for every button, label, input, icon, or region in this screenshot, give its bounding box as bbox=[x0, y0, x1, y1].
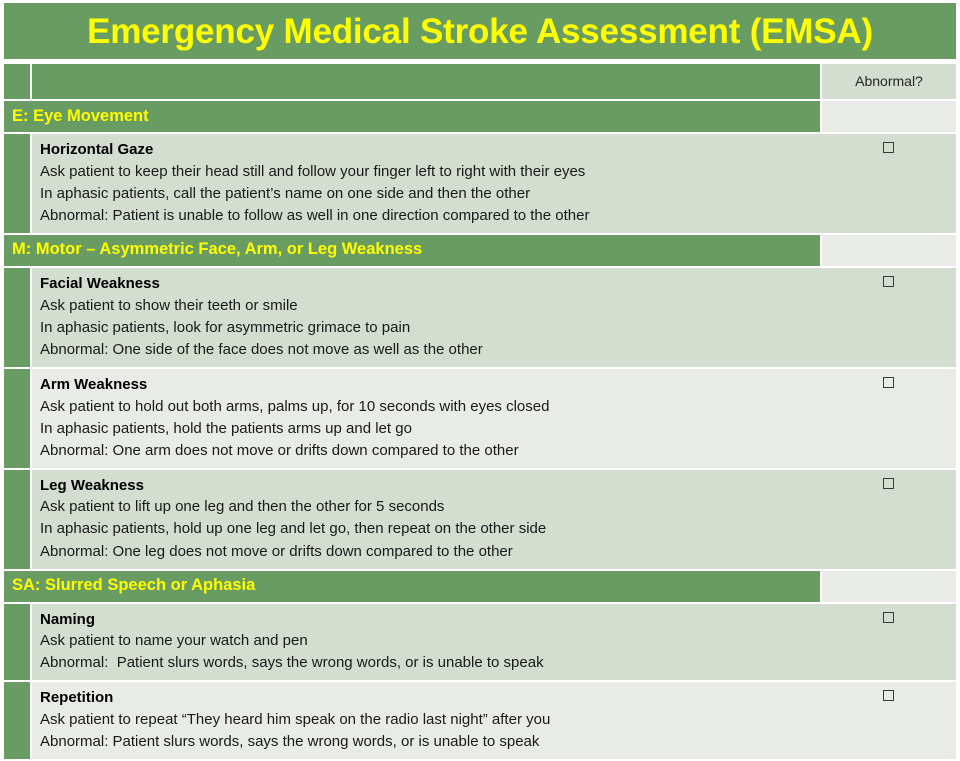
checkbox-icon[interactable] bbox=[883, 276, 894, 287]
item-line-aphasic: In aphasic patients, call the patient’s … bbox=[40, 183, 815, 205]
item-line-abnormal: Abnormal: Patient is unable to follow as… bbox=[40, 205, 815, 227]
section-abnormal-cell bbox=[821, 100, 956, 133]
checkbox-icon[interactable] bbox=[883, 612, 894, 623]
row-body-repetition: Repetition Ask patient to repeat “They h… bbox=[31, 681, 821, 760]
item-line-aphasic: In aphasic patients, hold up one leg and… bbox=[40, 518, 815, 540]
header-abnormal-cell: Abnormal? bbox=[821, 64, 956, 100]
item-line-abnormal: Abnormal: One leg does not move or drift… bbox=[40, 541, 815, 563]
abnormal-cell-facial-weakness[interactable] bbox=[821, 267, 956, 368]
table-row-horizontal-gaze: Horizontal Gaze Ask patient to keep thei… bbox=[4, 133, 956, 234]
section-label-speech: SA: Slurred Speech or Aphasia bbox=[12, 576, 255, 594]
row-gutter bbox=[4, 681, 31, 760]
checkbox-icon[interactable] bbox=[883, 690, 894, 701]
section-header-row-motor: M: Motor – Asymmetric Face, Arm, or Leg … bbox=[4, 234, 956, 267]
abnormal-cell-leg-weakness[interactable] bbox=[821, 469, 956, 570]
item-line-abnormal: Abnormal: Patient slurs words, says the … bbox=[40, 652, 815, 674]
item-line-instruction: Ask patient to hold out both arms, palms… bbox=[40, 396, 815, 418]
abnormal-cell-arm-weakness[interactable] bbox=[821, 368, 956, 469]
row-gutter bbox=[4, 603, 31, 682]
row-gutter bbox=[4, 368, 31, 469]
row-body-horizontal-gaze: Horizontal Gaze Ask patient to keep thei… bbox=[31, 133, 821, 234]
table-body: Abnormal? E: Eye Movement Horizontal Gaz… bbox=[4, 64, 956, 760]
section-label-motor: M: Motor – Asymmetric Face, Arm, or Leg … bbox=[12, 240, 422, 258]
section-header-cell: M: Motor – Asymmetric Face, Arm, or Leg … bbox=[4, 234, 821, 267]
table-row-leg-weakness: Leg Weakness Ask patient to lift up one … bbox=[4, 469, 956, 570]
item-line-abnormal: Abnormal: One arm does not move or drift… bbox=[40, 440, 815, 462]
item-line-instruction: Ask patient to lift up one leg and then … bbox=[40, 496, 815, 518]
checkbox-icon[interactable] bbox=[883, 142, 894, 153]
section-abnormal-cell bbox=[821, 234, 956, 267]
row-gutter bbox=[4, 133, 31, 234]
item-line-abnormal: Abnormal: One side of the face does not … bbox=[40, 339, 815, 361]
item-line-instruction: Ask patient to show their teeth or smile bbox=[40, 295, 815, 317]
item-line-aphasic: In aphasic patients, look for asymmetric… bbox=[40, 317, 815, 339]
row-gutter bbox=[4, 469, 31, 570]
abnormal-cell-naming[interactable] bbox=[821, 603, 956, 682]
row-body-naming: Naming Ask patient to name your watch an… bbox=[31, 603, 821, 682]
item-title: Facial Weakness bbox=[40, 273, 815, 295]
item-line-instruction: Ask patient to repeat “They heard him sp… bbox=[40, 709, 815, 731]
section-header-row-eye-movement: E: Eye Movement bbox=[4, 100, 956, 133]
item-line-abnormal: Abnormal: Patient slurs words, says the … bbox=[40, 731, 815, 753]
emsa-assessment-table: Abnormal? E: Eye Movement Horizontal Gaz… bbox=[4, 64, 956, 761]
table-row-arm-weakness: Arm Weakness Ask patient to hold out bot… bbox=[4, 368, 956, 469]
item-title: Horizontal Gaze bbox=[40, 139, 815, 161]
item-title: Repetition bbox=[40, 687, 815, 709]
section-header-cell: SA: Slurred Speech or Aphasia bbox=[4, 570, 821, 603]
table-row-facial-weakness: Facial Weakness Ask patient to show thei… bbox=[4, 267, 956, 368]
checkbox-icon[interactable] bbox=[883, 478, 894, 489]
section-label-eye-movement: E: Eye Movement bbox=[12, 107, 149, 125]
checkbox-icon[interactable] bbox=[883, 377, 894, 388]
page-title: Emergency Medical Stroke Assessment (EMS… bbox=[87, 14, 873, 49]
section-abnormal-cell bbox=[821, 570, 956, 603]
abnormal-cell-repetition[interactable] bbox=[821, 681, 956, 760]
item-line-aphasic: In aphasic patients, hold the patients a… bbox=[40, 418, 815, 440]
item-line-instruction: Ask patient to name your watch and pen bbox=[40, 630, 815, 652]
section-header-cell: E: Eye Movement bbox=[4, 100, 821, 133]
item-title: Leg Weakness bbox=[40, 475, 815, 497]
title-bar: Emergency Medical Stroke Assessment (EMS… bbox=[4, 3, 956, 59]
row-gutter bbox=[4, 267, 31, 368]
header-gutter-cell bbox=[4, 64, 31, 100]
item-line-instruction: Ask patient to keep their head still and… bbox=[40, 161, 815, 183]
section-header-row-speech: SA: Slurred Speech or Aphasia bbox=[4, 570, 956, 603]
row-body-arm-weakness: Arm Weakness Ask patient to hold out bot… bbox=[31, 368, 821, 469]
item-title: Naming bbox=[40, 609, 815, 631]
row-body-facial-weakness: Facial Weakness Ask patient to show thei… bbox=[31, 267, 821, 368]
header-blank-cell bbox=[31, 64, 821, 100]
item-title: Arm Weakness bbox=[40, 374, 815, 396]
row-body-leg-weakness: Leg Weakness Ask patient to lift up one … bbox=[31, 469, 821, 570]
table-row-naming: Naming Ask patient to name your watch an… bbox=[4, 603, 956, 682]
table-header-row: Abnormal? bbox=[4, 64, 956, 100]
table-row-repetition: Repetition Ask patient to repeat “They h… bbox=[4, 681, 956, 760]
emsa-slide: Emergency Medical Stroke Assessment (EMS… bbox=[0, 0, 960, 720]
abnormal-cell-horizontal-gaze[interactable] bbox=[821, 133, 956, 234]
